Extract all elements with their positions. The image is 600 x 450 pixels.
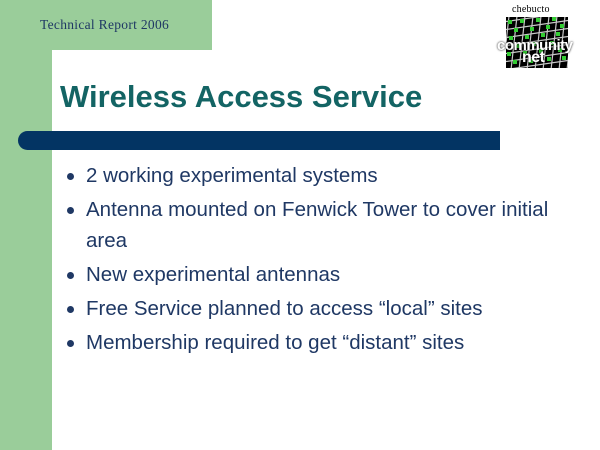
list-item: Free Service planned to access “local” s… xyxy=(62,293,562,324)
list-item: Antenna mounted on Fenwick Tower to cove… xyxy=(62,194,562,256)
title-divider-bar xyxy=(18,131,500,150)
logo-chebucto-text: chebucto xyxy=(512,4,550,15)
presentation-slide: Technical Report 2006 chebucto xyxy=(0,0,600,450)
left-green-band xyxy=(0,0,52,450)
report-label: Technical Report 2006 xyxy=(40,17,169,33)
bullet-dot-icon xyxy=(67,340,74,347)
list-item-label: New experimental antennas xyxy=(86,263,340,286)
list-item-label: Antenna mounted on Fenwick Tower to cove… xyxy=(86,198,548,252)
bullet-list: 2 working experimental systems Antenna m… xyxy=(62,160,562,361)
list-item-label: 2 working experimental systems xyxy=(86,164,378,187)
bullet-dot-icon xyxy=(67,306,74,313)
logo-net-text: net xyxy=(522,49,545,67)
list-item: Membership required to get “distant” sit… xyxy=(62,327,562,358)
bullet-dot-icon xyxy=(67,207,74,214)
list-item-label: Free Service planned to access “local” s… xyxy=(86,297,483,320)
chebucto-community-net-logo: chebucto xyxy=(494,4,586,70)
list-item: New experimental antennas xyxy=(62,259,562,290)
slide-title: Wireless Access Service xyxy=(60,79,422,115)
list-item-label: Membership required to get “distant” sit… xyxy=(86,331,464,354)
list-item: 2 working experimental systems xyxy=(62,160,562,191)
bullet-dot-icon xyxy=(67,272,74,279)
bullet-dot-icon xyxy=(67,173,74,180)
